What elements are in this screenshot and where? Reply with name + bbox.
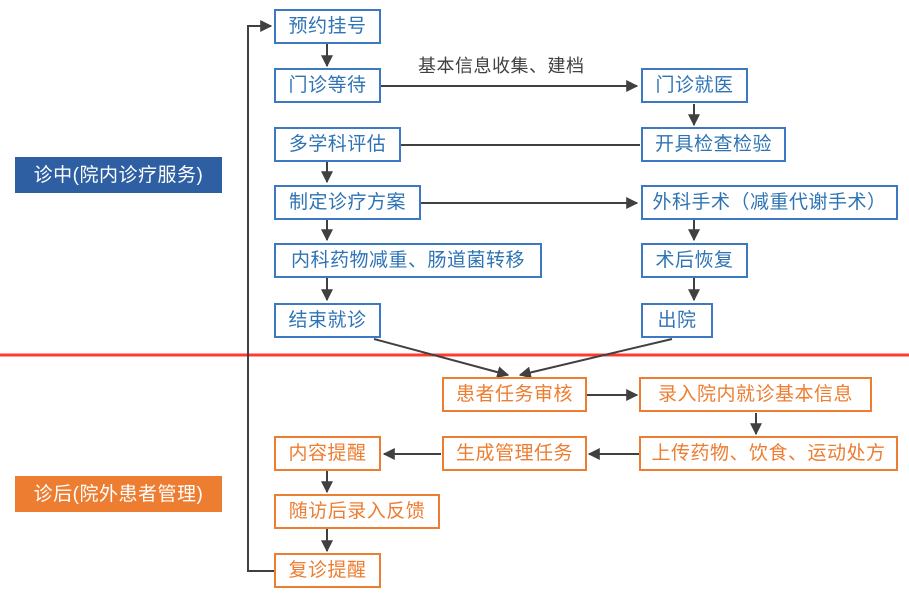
edge-end-to-task-review xyxy=(374,339,508,375)
node-upload-prescription-label: 上传药物、饮食、运动处方 xyxy=(651,444,885,463)
node-appointment[interactable]: 预约挂号 xyxy=(274,9,381,44)
node-discharge-label: 出院 xyxy=(657,311,696,330)
node-revisit-reminder-label: 复诊提醒 xyxy=(288,561,366,580)
node-followup-feedback[interactable]: 随访后录入反馈 xyxy=(274,494,440,529)
phase-label-post-hospital: 诊后(院外患者管理) xyxy=(15,476,222,512)
node-generate-task-label: 生成管理任务 xyxy=(456,444,573,463)
node-treatment-plan-label: 制定诊疗方案 xyxy=(289,193,406,212)
node-discharge[interactable]: 出院 xyxy=(641,303,713,338)
node-revisit-reminder[interactable]: 复诊提醒 xyxy=(274,553,381,588)
node-enter-visit-info-label: 录入院内就诊基本信息 xyxy=(658,385,853,404)
node-task-review-label: 患者任务审核 xyxy=(456,385,573,404)
node-surgery[interactable]: 外科手术（减重代谢手术） xyxy=(641,185,898,220)
edge-label-basic-info-text: 基本信息收集、建档 xyxy=(418,56,585,76)
node-upload-prescription[interactable]: 上传药物、饮食、运动处方 xyxy=(639,436,898,471)
node-task-review[interactable]: 患者任务审核 xyxy=(442,377,587,412)
node-post-op-recovery-label: 术后恢复 xyxy=(655,251,733,270)
node-post-op-recovery[interactable]: 术后恢复 xyxy=(641,243,748,278)
node-outpatient-wait[interactable]: 门诊等待 xyxy=(274,68,381,103)
phase-label-in-hospital: 诊中(院内诊疗服务) xyxy=(15,157,222,193)
node-end-visit-label: 结束就诊 xyxy=(288,311,366,330)
edge-revisit-to-appointment-loop xyxy=(248,26,274,571)
node-mdt-assessment[interactable]: 多学科评估 xyxy=(274,127,401,162)
node-content-reminder-label: 内容提醒 xyxy=(288,444,366,463)
node-end-visit[interactable]: 结束就诊 xyxy=(274,303,381,338)
node-medical-weightloss[interactable]: 内科药物减重、肠道菌转移 xyxy=(274,243,542,278)
node-treatment-plan[interactable]: 制定诊疗方案 xyxy=(274,185,421,220)
node-enter-visit-info[interactable]: 录入院内就诊基本信息 xyxy=(639,377,872,412)
node-medical-weightloss-label: 内科药物减重、肠道菌转移 xyxy=(291,251,525,270)
node-order-exams-label: 开具检查检验 xyxy=(655,135,772,154)
node-appointment-label: 预约挂号 xyxy=(288,17,366,36)
node-followup-feedback-label: 随访后录入反馈 xyxy=(289,502,426,521)
node-outpatient-wait-label: 门诊等待 xyxy=(288,76,366,95)
phase-label-post-hospital-text: 诊后(院外患者管理) xyxy=(34,485,204,504)
flowchart-canvas: 诊中(院内诊疗服务) 诊后(院外患者管理) 基本信息收集、建档 预约挂号 门诊等… xyxy=(0,0,909,594)
phase-label-in-hospital-text: 诊中(院内诊疗服务) xyxy=(34,166,204,185)
node-content-reminder[interactable]: 内容提醒 xyxy=(274,436,381,471)
node-surgery-label: 外科手术（减重代谢手术） xyxy=(652,193,886,212)
edge-label-basic-info: 基本信息收集、建档 xyxy=(418,52,585,78)
node-mdt-assessment-label: 多学科评估 xyxy=(289,135,387,154)
edge-discharge-to-task-review xyxy=(520,339,672,375)
node-generate-task[interactable]: 生成管理任务 xyxy=(442,436,587,471)
node-outpatient-visit[interactable]: 门诊就医 xyxy=(641,68,748,103)
node-outpatient-visit-label: 门诊就医 xyxy=(655,76,733,95)
node-order-exams[interactable]: 开具检查检验 xyxy=(641,127,786,162)
